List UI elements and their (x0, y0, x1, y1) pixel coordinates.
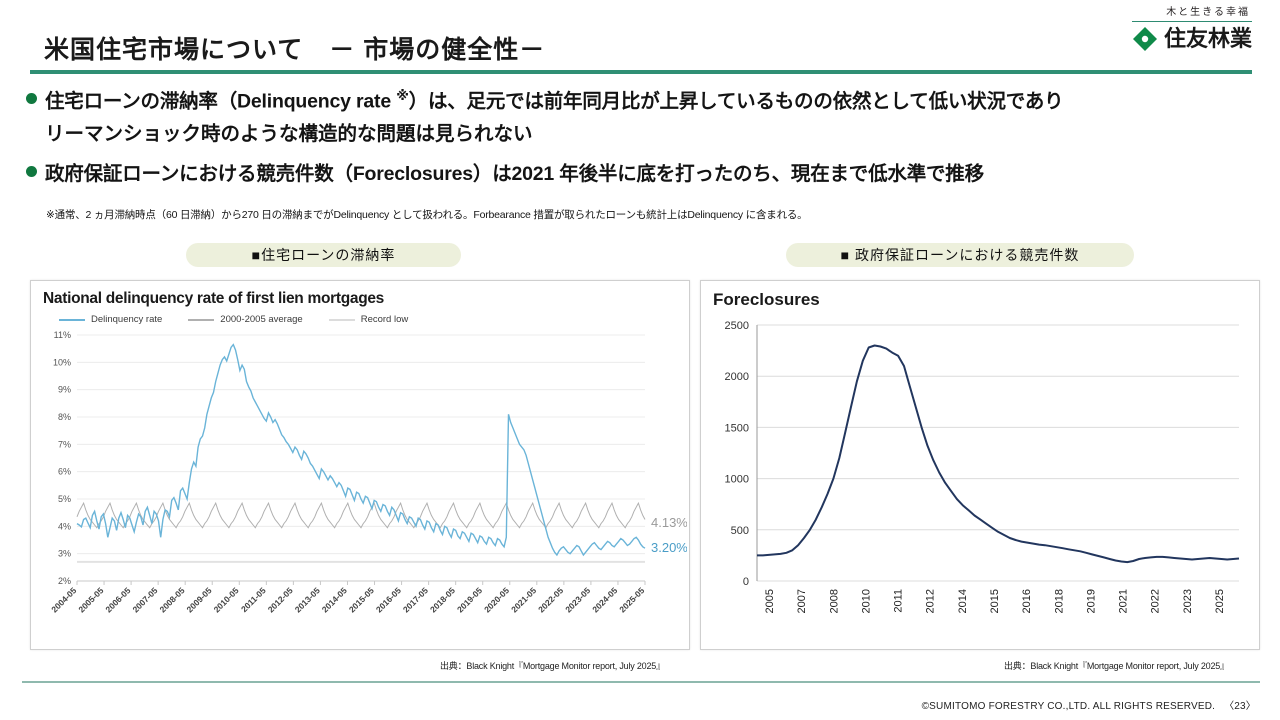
logo-tagline: 木と生きる幸福 (1132, 8, 1252, 18)
svg-text:2500: 2500 (725, 320, 749, 332)
slide-root: 木と生きる幸福 住友林業 米国住宅市場について － 市場の健全性－ 住宅ローンの… (0, 0, 1280, 720)
svg-text:2009-05: 2009-05 (185, 585, 214, 614)
svg-text:2008: 2008 (828, 589, 840, 613)
svg-text:2016: 2016 (1021, 589, 1033, 613)
delinquency-chart-legend: Delinquency rate 2000-2005 average Recor… (59, 314, 434, 325)
delinquency-chart-panel: National delinquency rate of first lien … (30, 280, 690, 650)
bullet-dot-icon (26, 166, 37, 177)
svg-text:8%: 8% (58, 412, 71, 422)
bullet-1-part-b: ）は、足元では前年同月比が上昇しているものの依然として低い状況であり (409, 91, 1064, 113)
svg-text:2008-05: 2008-05 (157, 585, 186, 614)
legend-swatch-average (188, 319, 214, 321)
svg-text:500: 500 (731, 525, 749, 537)
bullet-list: 住宅ローンの滞納率（Delinquency rate ※）は、足元では前年同月比… (26, 86, 1261, 191)
foreclosures-chart-plot: 0500100015002000250020052007200820102011… (701, 317, 1257, 647)
svg-text:2024-05: 2024-05 (590, 585, 619, 614)
footnote: ※通常、2 ヵ月滞納時点（60 日滞納）から270 日の滞納までがDelinqu… (46, 207, 807, 222)
legend-label-delinquency: Delinquency rate (91, 314, 162, 325)
bullet-dot-icon (26, 93, 37, 104)
svg-text:9%: 9% (58, 385, 71, 395)
svg-text:1000: 1000 (725, 474, 749, 486)
section-label-foreclosures: ■ 政府保証ローンにおける競売件数 (786, 243, 1134, 267)
bullet-text-1: 住宅ローンの滞納率（Delinquency rate ※）は、足元では前年同月比… (45, 86, 1063, 117)
svg-text:7%: 7% (58, 439, 71, 449)
svg-text:2014: 2014 (957, 589, 969, 613)
svg-text:2013-05: 2013-05 (293, 585, 322, 614)
svg-text:0: 0 (743, 576, 749, 588)
logo-divider (1132, 21, 1252, 22)
source-foreclosures: 出典：Black Knight『Mortgage Monitor report,… (1004, 659, 1229, 672)
svg-text:2020-05: 2020-05 (482, 585, 511, 614)
delinquency-chart-title: National delinquency rate of first lien … (43, 290, 384, 308)
company-logo: 木と生きる幸福 住友林業 (1132, 8, 1252, 52)
legend-item-delinquency-rate: Delinquency rate (59, 314, 162, 325)
legend-label-average: 2000-2005 average (220, 314, 302, 325)
svg-text:4%: 4% (58, 521, 71, 531)
svg-text:2010-05: 2010-05 (212, 585, 241, 614)
legend-swatch-delinquency (59, 319, 85, 321)
svg-text:2017-05: 2017-05 (401, 585, 430, 614)
svg-text:2007: 2007 (796, 589, 808, 613)
title-divider (30, 70, 1252, 74)
svg-text:2025-05: 2025-05 (617, 585, 646, 614)
svg-text:2%: 2% (58, 576, 71, 586)
svg-text:11%: 11% (54, 330, 71, 340)
svg-text:2022-05: 2022-05 (536, 585, 565, 614)
foreclosures-chart-panel: Foreclosures 050010001500200025002005200… (700, 280, 1260, 650)
copyright-text: ©SUMITOMO FORESTRY CO.,LTD. ALL RIGHTS R… (922, 701, 1216, 712)
footer-copyright: ©SUMITOMO FORESTRY CO.,LTD. ALL RIGHTS R… (922, 697, 1256, 712)
svg-text:10%: 10% (53, 357, 71, 367)
section-label-delinquency: ■住宅ローンの滞納率 (186, 243, 461, 267)
svg-text:2025: 2025 (1214, 589, 1226, 613)
logo-company-name: 住友林業 (1164, 28, 1252, 50)
bullet-item-2: 政府保証ローンにおける競売件数（Foreclosures）は2021 年後半に底… (26, 159, 1261, 189)
page-title: 米国住宅市場について － 市場の健全性－ (44, 30, 545, 66)
svg-text:5%: 5% (58, 494, 71, 504)
svg-text:2010: 2010 (860, 589, 872, 613)
foreclosures-chart-title: Foreclosures (713, 290, 820, 310)
legend-item-average: 2000-2005 average (188, 314, 302, 325)
footer-divider (22, 681, 1260, 683)
svg-text:2019-05: 2019-05 (455, 585, 484, 614)
svg-text:2018: 2018 (1053, 589, 1065, 613)
svg-text:1500: 1500 (725, 422, 749, 434)
svg-text:2011: 2011 (893, 589, 905, 613)
bullet-text-2: 政府保証ローンにおける競売件数（Foreclosures）は2021 年後半に底… (45, 159, 984, 189)
svg-text:2000: 2000 (725, 371, 749, 383)
bullet-1-part-a: 住宅ローンの滞納率（Delinquency rate (45, 91, 396, 113)
bullet-item-1: 住宅ローンの滞納率（Delinquency rate ※）は、足元では前年同月比… (26, 86, 1261, 117)
svg-text:2014-05: 2014-05 (320, 585, 349, 614)
svg-text:2006-05: 2006-05 (103, 585, 132, 614)
svg-text:2012: 2012 (925, 589, 937, 613)
bullet-1-superscript: ※ (396, 88, 408, 103)
svg-text:2007-05: 2007-05 (130, 585, 159, 614)
svg-text:2019: 2019 (1085, 589, 1097, 613)
svg-text:3.20%: 3.20% (651, 540, 687, 555)
svg-text:2023-05: 2023-05 (563, 585, 592, 614)
svg-text:2021-05: 2021-05 (509, 585, 538, 614)
legend-label-record-low: Record low (361, 314, 409, 325)
svg-text:2021: 2021 (1118, 589, 1130, 613)
svg-text:2022: 2022 (1150, 589, 1162, 613)
legend-item-record-low: Record low (329, 314, 409, 325)
svg-text:2018-05: 2018-05 (428, 585, 457, 614)
svg-text:6%: 6% (58, 467, 71, 477)
page-number: 〈23〉 (1224, 701, 1256, 712)
svg-text:2011-05: 2011-05 (239, 585, 268, 614)
diamond-logo-icon (1132, 26, 1158, 52)
delinquency-chart-plot: 2%3%4%5%6%7%8%9%10%11%2004-052005-052006… (31, 329, 687, 644)
svg-text:4.13%: 4.13% (651, 515, 687, 530)
svg-text:2004-05: 2004-05 (49, 585, 78, 614)
svg-text:2005: 2005 (764, 589, 776, 613)
svg-text:2023: 2023 (1182, 589, 1194, 613)
svg-text:2015-05: 2015-05 (347, 585, 376, 614)
svg-text:3%: 3% (58, 549, 71, 559)
svg-text:2016-05: 2016-05 (374, 585, 403, 614)
bullet-item-1-line2: リーマンショック時のような構造的な問題は見られない (45, 119, 1261, 149)
source-delinquency: 出典：Black Knight『Mortgage Monitor report,… (440, 659, 665, 672)
svg-text:2005-05: 2005-05 (76, 585, 105, 614)
legend-swatch-record-low (329, 319, 355, 321)
svg-text:2012-05: 2012-05 (266, 585, 295, 614)
svg-text:2015: 2015 (989, 589, 1001, 613)
